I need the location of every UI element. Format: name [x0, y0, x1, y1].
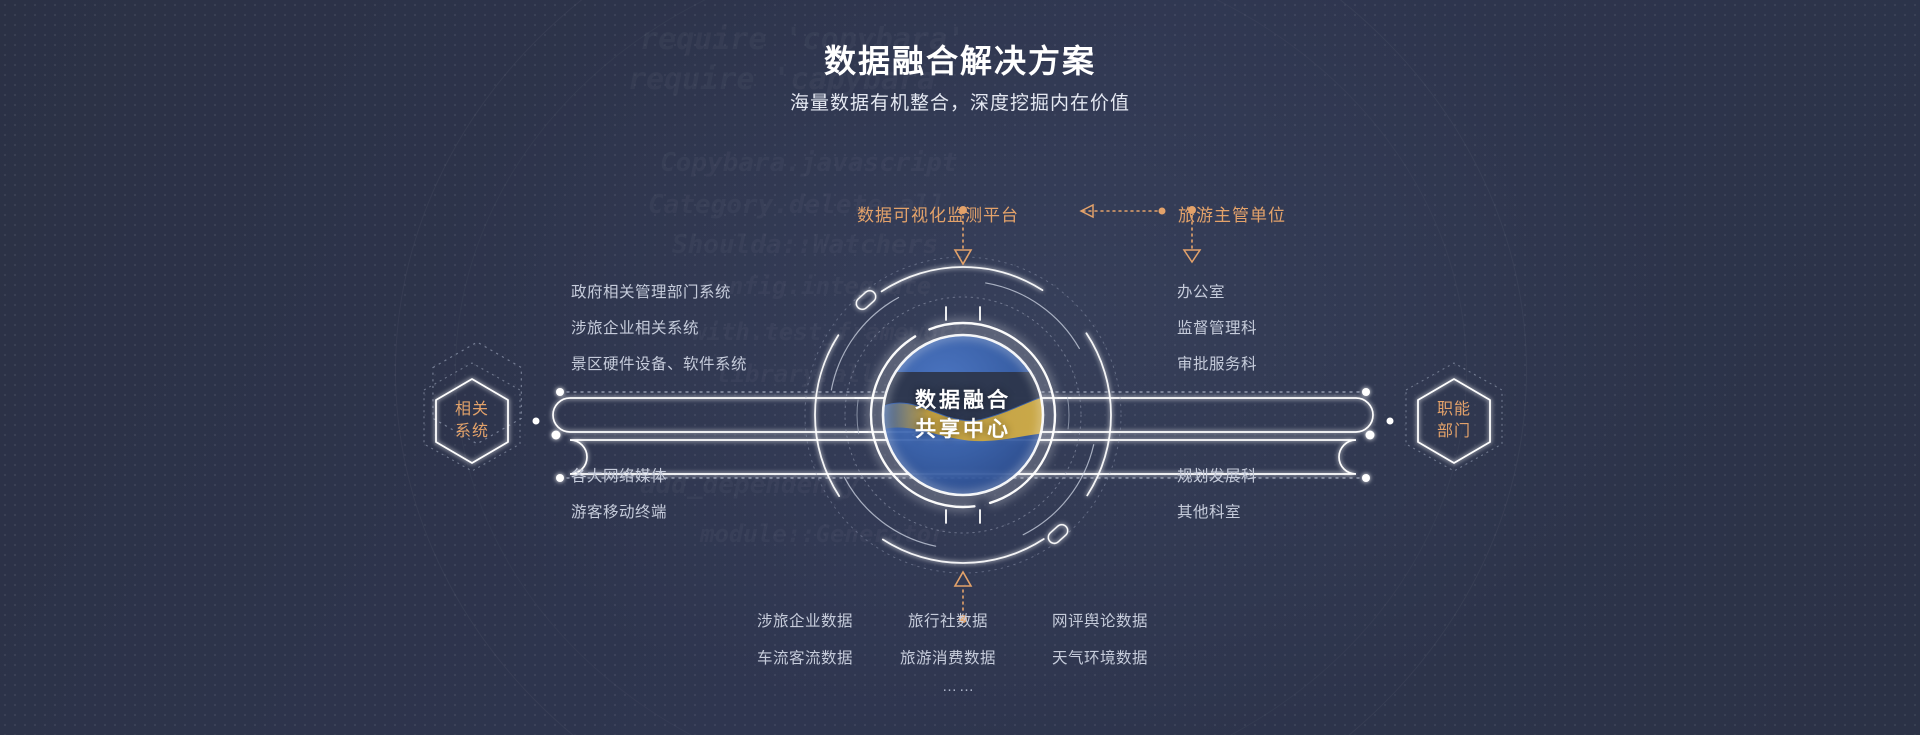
right-main-node-dot — [1366, 431, 1375, 440]
center-hub-label: 数据融合 共享中心 — [873, 386, 1053, 444]
bottom-label-r0c0: 涉旅企业数据 — [757, 609, 853, 631]
left-node-dot-bottom — [556, 474, 564, 482]
ring-marker-bottom-right — [1046, 522, 1070, 546]
hexagon-right-line-1: 职能 — [1394, 399, 1514, 421]
left-label-lower-0: 各大网络媒体 — [571, 464, 667, 486]
hexagon-left-line-2: 系统 — [412, 421, 532, 443]
bracket-top — [946, 307, 980, 320]
center-hub-line-2: 共享中心 — [873, 415, 1053, 444]
left-main-node-dot — [552, 431, 561, 440]
authority-down-arrow-icon — [1184, 250, 1200, 262]
right-label-upper-2: 审批服务科 — [1177, 352, 1257, 374]
bottom-label-r0c1: 旅行社数据 — [908, 609, 988, 631]
bottom-up-arrow-icon — [955, 572, 971, 586]
bottom-label-r1c0: 车流客流数据 — [757, 646, 853, 668]
bottom-label-r1c1: 旅游消费数据 — [900, 646, 996, 668]
left-label-upper-0: 政府相关管理部门系统 — [571, 280, 731, 302]
top-platform-label[interactable]: 数据可视化监测平台 — [857, 201, 1019, 226]
hexagon-right-label: 职能 部门 — [1394, 399, 1514, 443]
left-node-dot-top — [556, 388, 564, 396]
hexagon-left-connector-dot — [533, 418, 540, 425]
platform-down-arrow-icon — [955, 250, 971, 264]
bottom-label-r1c2: 天气环境数据 — [1052, 646, 1148, 668]
ring-marker-top-left — [854, 288, 878, 312]
hexagon-right-connector-dot — [1387, 418, 1394, 425]
right-label-lower-0: 规划发展科 — [1177, 464, 1257, 486]
hexagon-right-line-2: 部门 — [1394, 421, 1514, 443]
right-node-dot-top — [1362, 388, 1370, 396]
right-node-dot-bottom — [1362, 474, 1370, 482]
bracket-bottom — [946, 510, 980, 523]
solution-diagram-stage: require 'copybara' require 'capybara' Co… — [0, 0, 1920, 735]
left-label-upper-1: 涉旅企业相关系统 — [571, 316, 699, 338]
center-hub-line-1: 数据融合 — [873, 386, 1053, 415]
right-label-lower-1: 其他科室 — [1177, 500, 1241, 522]
right-label-upper-0: 办公室 — [1177, 280, 1225, 302]
top-link-endpoint-dot — [1159, 208, 1166, 215]
hexagon-left-line-1: 相关 — [412, 399, 532, 421]
right-label-upper-1: 监督管理科 — [1177, 316, 1257, 338]
bottom-more-ellipsis: …… — [942, 678, 976, 695]
bottom-label-r0c2: 网评舆论数据 — [1052, 609, 1148, 631]
top-authority-label[interactable]: 旅游主管单位 — [1178, 201, 1286, 226]
hexagon-left-label: 相关 系统 — [412, 399, 532, 443]
left-label-lower-1: 游客移动终端 — [571, 500, 667, 522]
left-label-upper-2: 景区硬件设备、软件系统 — [571, 352, 747, 374]
